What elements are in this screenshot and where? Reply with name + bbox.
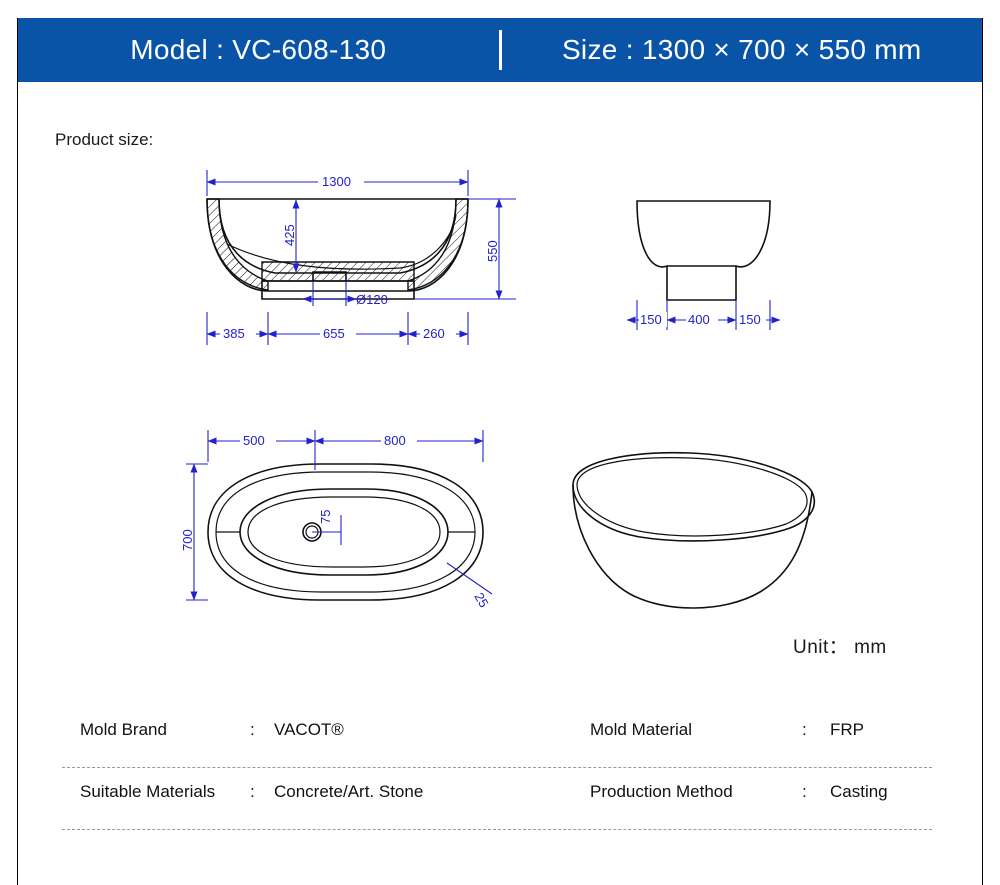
mold-brand-colon: : bbox=[250, 720, 255, 740]
side-elevation-view: 150 400 150 bbox=[627, 201, 780, 330]
mold-brand-key: Mold Brand bbox=[80, 720, 240, 740]
mold-material-key: Mold Material bbox=[590, 720, 770, 740]
suitable-materials-key: Suitable Materials bbox=[80, 782, 240, 802]
dim-150-right: 150 bbox=[739, 312, 761, 327]
dim-800: 800 bbox=[384, 433, 406, 448]
production-method-colon: : bbox=[802, 782, 807, 802]
suitable-materials-value: Concrete/Art. Stone bbox=[274, 782, 423, 802]
table-row: Suitable Materials : Concrete/Art. Stone… bbox=[62, 768, 932, 830]
dim-385: 385 bbox=[223, 326, 245, 341]
dim-150-left: 150 bbox=[640, 312, 662, 327]
production-method-key: Production Method bbox=[590, 782, 770, 802]
mold-material-value: FRP bbox=[830, 720, 864, 740]
mold-material-colon: : bbox=[802, 720, 807, 740]
suitable-materials-colon: : bbox=[250, 782, 255, 802]
dim-400: 400 bbox=[688, 312, 710, 327]
dim-diameter-120: Ø120 bbox=[356, 292, 388, 307]
dim-655: 655 bbox=[323, 326, 345, 341]
drawing-sheet: Model : VC-608-130 Size : 1300 × 700 × 5… bbox=[0, 0, 1000, 885]
top-plan-view: 75 500 800 700 25 bbox=[180, 430, 492, 610]
dim-260: 260 bbox=[423, 326, 445, 341]
production-method-value: Casting bbox=[830, 782, 888, 802]
front-cross-section-view: 1300 425 550 Ø120 385 65 bbox=[207, 170, 516, 345]
dim-425: 425 bbox=[282, 224, 297, 246]
dim-25: 25 bbox=[471, 590, 491, 610]
table-rule bbox=[62, 829, 932, 830]
table-row: Mold Brand : VACOT® Mold Material : FRP bbox=[62, 706, 932, 768]
3d-perspective-view bbox=[573, 453, 814, 608]
dim-75: 75 bbox=[318, 510, 333, 524]
specification-table: Mold Brand : VACOT® Mold Material : FRP … bbox=[62, 706, 932, 830]
mold-brand-value: VACOT® bbox=[274, 720, 344, 740]
dim-500: 500 bbox=[243, 433, 265, 448]
dim-1300: 1300 bbox=[322, 174, 351, 189]
dim-700: 700 bbox=[180, 529, 195, 551]
dim-550: 550 bbox=[485, 240, 500, 262]
